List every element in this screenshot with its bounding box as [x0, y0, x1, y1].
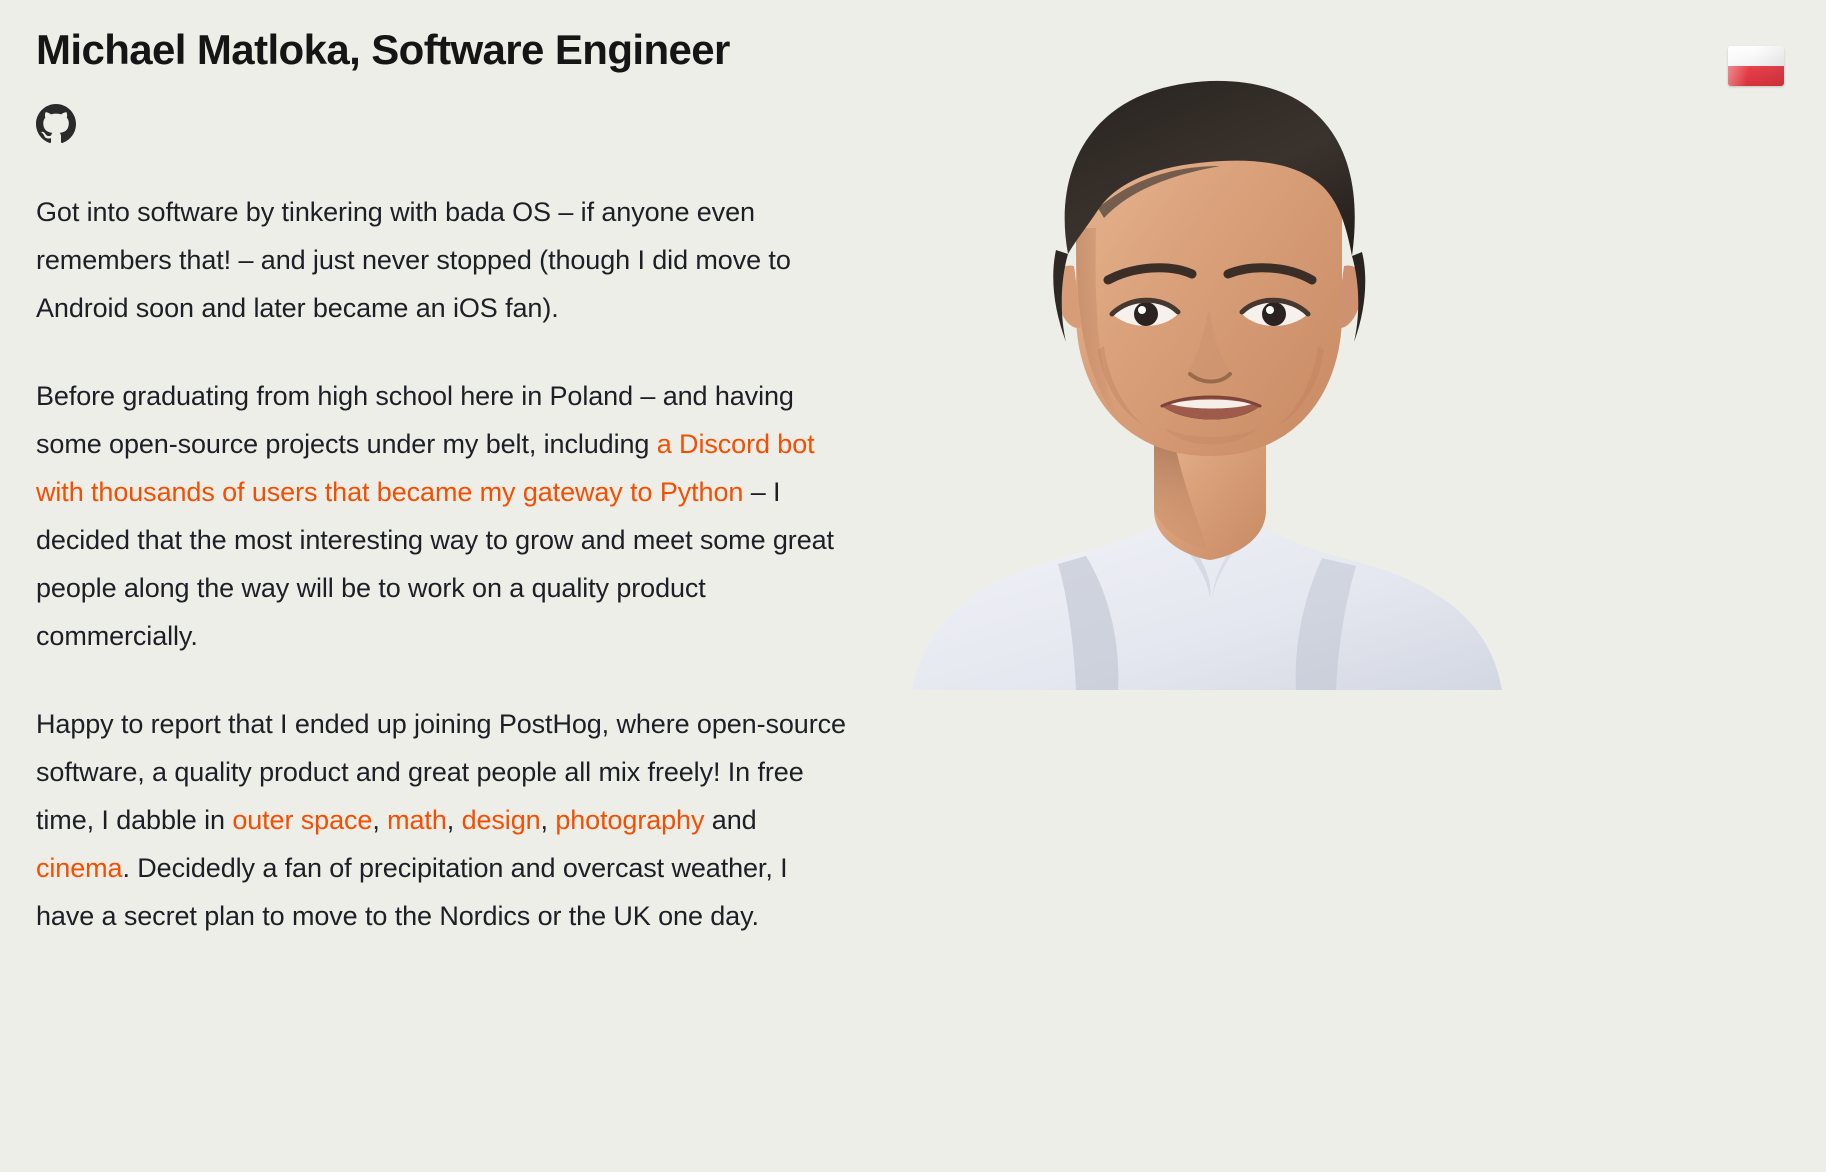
- bio-text-run: ,: [541, 805, 556, 835]
- bio-text-run: . Decidedly a fan of precipitation and o…: [36, 853, 788, 931]
- poland-flag-icon: [1728, 46, 1784, 86]
- bio-text: Got into software by tinkering with bada…: [36, 188, 848, 940]
- profile-page: Michael Matloka, Software Engineer Got i…: [0, 0, 1826, 1172]
- page-title: Michael Matloka, Software Engineer: [36, 26, 730, 74]
- bio-paragraph-3: Happy to report that I ended up joining …: [36, 700, 848, 940]
- bio-paragraph-1: Got into software by tinkering with bada…: [36, 188, 848, 332]
- bio-text-run: ,: [447, 805, 462, 835]
- portrait-svg: [908, 58, 1504, 690]
- bio-paragraph-2: Before graduating from high school here …: [36, 372, 848, 660]
- bio-link[interactable]: cinema: [36, 853, 122, 883]
- flag-sheen: [1728, 46, 1784, 86]
- bio-link[interactable]: outer space: [232, 805, 372, 835]
- bio-text-run: and: [704, 805, 756, 835]
- bio-link[interactable]: math: [387, 805, 447, 835]
- bio-link[interactable]: design: [462, 805, 541, 835]
- social-links: [36, 104, 76, 144]
- bio-text-run: Got into software by tinkering with bada…: [36, 197, 791, 323]
- bio-text-run: ,: [372, 805, 387, 835]
- github-icon[interactable]: [36, 104, 76, 144]
- portrait-illustration: [908, 58, 1504, 690]
- bio-link[interactable]: photography: [555, 805, 704, 835]
